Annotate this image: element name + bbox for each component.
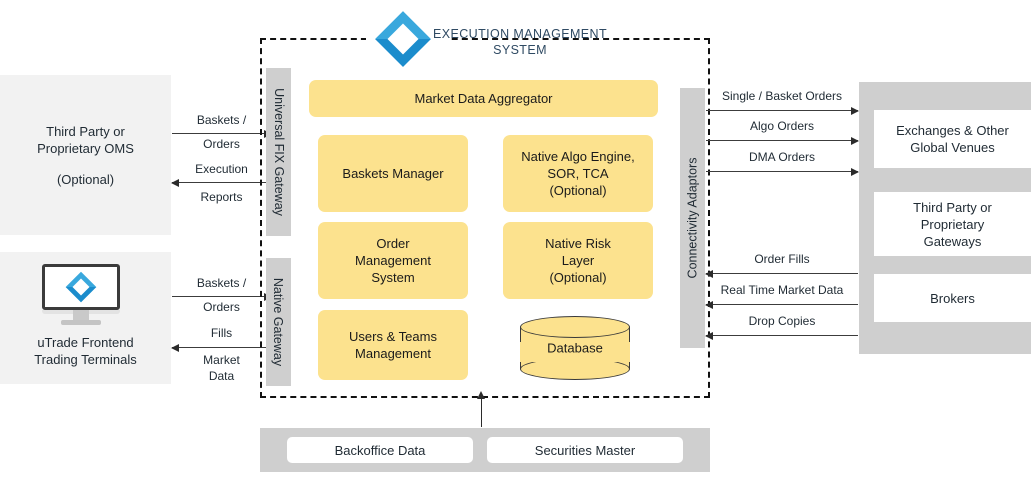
label-dma-orders: DMA Orders [706,150,858,164]
native-risk-layer-box[interactable]: Native Risk Layer (Optional) [503,222,653,299]
arrow-dma-orders [706,171,858,172]
venue-0-line1: Exchanges & Other [896,122,1009,139]
terminals-line1: uTrade Frontend [37,334,133,351]
page-title: EXECUTION MANAGEMENT SYSTEM [430,26,610,58]
terminals-line2: Trading Terminals [34,351,137,368]
venue-0-line2: Global Venues [910,139,995,156]
label-fills: Fills [172,326,271,340]
users-teams-line1: Users & Teams [349,328,437,345]
risk-layer-line1: Native Risk [545,235,611,252]
label-baskets-orders-in-below: Orders [172,137,271,151]
oms-box-line2: Management [355,252,431,269]
market-data-aggregator-box[interactable]: Market Data Aggregator [309,80,658,117]
oms-optional-note: (Optional) [37,171,134,188]
label-market: Market [172,353,271,367]
label-data: Data [172,369,271,383]
venue-1-line3: Gateways [924,233,982,250]
oms-line1: Third Party or [37,123,134,140]
label-algo-orders: Algo Orders [706,119,858,133]
oms-box-line1: Order [376,235,409,252]
third-party-oms-panel: Third Party or Proprietary OMS (Optional… [0,75,171,235]
venue-2-line1: Brokers [930,290,975,307]
exchanges-global-venues-box[interactable]: Exchanges & Other Global Venues [874,110,1031,168]
label-baskets-native-below: Orders [172,300,271,314]
oms-line2: Proprietary OMS [37,140,134,157]
risk-layer-line2: Layer [562,252,595,269]
arrow-bottom-to-ems [481,399,482,427]
utrade-diamond-logo [372,8,434,70]
native-gateway-bar[interactable]: Native Gateway [266,258,291,386]
venue-1-line2: Proprietary [921,216,985,233]
label-baskets-orders-in-above: Baskets / [172,113,271,127]
backoffice-data-label: Backoffice Data [335,443,426,458]
utrade-diamond-logo-small [64,270,98,304]
arrow-single-basket-orders [706,110,858,111]
market-data-aggregator-label: Market Data Aggregator [414,90,552,107]
arrow-fills-market-data [172,347,271,348]
native-gateway-label: Native Gateway [272,278,286,366]
baskets-manager-label: Baskets Manager [342,165,443,182]
monitor-icon [42,264,120,326]
page-title-line1: EXECUTION MANAGEMENT [430,26,610,42]
page-title-line2: SYSTEM [430,42,610,58]
algo-engine-line2: SOR, TCA [547,165,608,182]
label-drop-copies: Drop Copies [706,314,858,328]
database-cylinder[interactable]: Database [520,316,630,380]
baskets-manager-box[interactable]: Baskets Manager [318,135,468,212]
users-teams-management-box[interactable]: Users & Teams Management [318,310,468,380]
utrade-terminals-label: uTrade Frontend Trading Terminals [0,334,171,368]
universal-fix-gateway-label: Universal FIX Gateway [272,88,286,216]
securities-master-box[interactable]: Securities Master [487,437,683,463]
label-real-time-market-data: Real Time Market Data [702,283,862,297]
arrow-real-time-market-data [706,304,858,305]
brokers-box[interactable]: Brokers [874,274,1031,322]
third-party-gateways-box[interactable]: Third Party or Proprietary Gateways [874,192,1031,256]
universal-fix-gateway-bar[interactable]: Universal FIX Gateway [266,68,291,236]
connectivity-adaptors-bar[interactable]: Connectivity Adaptors [680,88,705,348]
database-label: Database [520,341,630,356]
label-execution-reports-below: Reports [172,190,271,204]
arrow-algo-orders [706,140,858,141]
utrade-terminals-panel: uTrade Frontend Trading Terminals [0,252,171,384]
label-execution-reports-above: Execution [172,162,271,176]
users-teams-line2: Management [355,345,431,362]
risk-layer-line3: (Optional) [549,269,606,286]
arrow-order-fills [706,273,858,274]
arrow-execution-reports [172,182,271,183]
connectivity-adaptors-label: Connectivity Adaptors [686,158,700,279]
algo-engine-line3: (Optional) [549,182,606,199]
arrow-baskets-orders-native [172,296,271,297]
third-party-oms-label: Third Party or Proprietary OMS (Optional… [37,123,134,188]
securities-master-label: Securities Master [535,443,635,458]
label-baskets-native-above: Baskets / [172,276,271,290]
backoffice-data-box[interactable]: Backoffice Data [287,437,473,463]
arrow-baskets-orders-in [172,133,271,134]
oms-box-line3: System [371,269,414,286]
algo-engine-line1: Native Algo Engine, [521,148,634,165]
label-single-basket-orders: Single / Basket Orders [706,89,858,103]
arrow-drop-copies [706,335,858,336]
label-order-fills: Order Fills [706,252,858,266]
order-management-system-box[interactable]: Order Management System [318,222,468,299]
native-algo-engine-box[interactable]: Native Algo Engine, SOR, TCA (Optional) [503,135,653,212]
venue-1-line1: Third Party or [913,199,992,216]
